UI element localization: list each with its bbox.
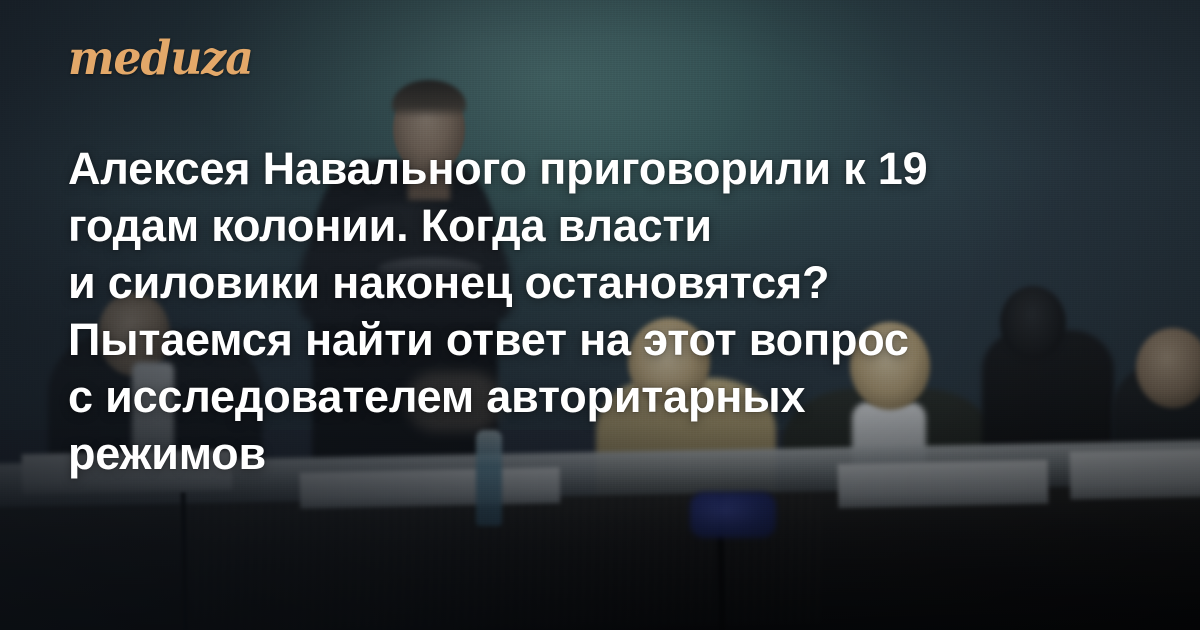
meduza-logo[interactable]: meduza [68, 36, 253, 83]
share-card: meduza Алексея Навального приговорили к … [0, 0, 1200, 630]
headline: Алексея Навального приговорили к 19 года… [68, 140, 1132, 482]
card-content: meduza Алексея Навального приговорили к … [0, 0, 1200, 630]
